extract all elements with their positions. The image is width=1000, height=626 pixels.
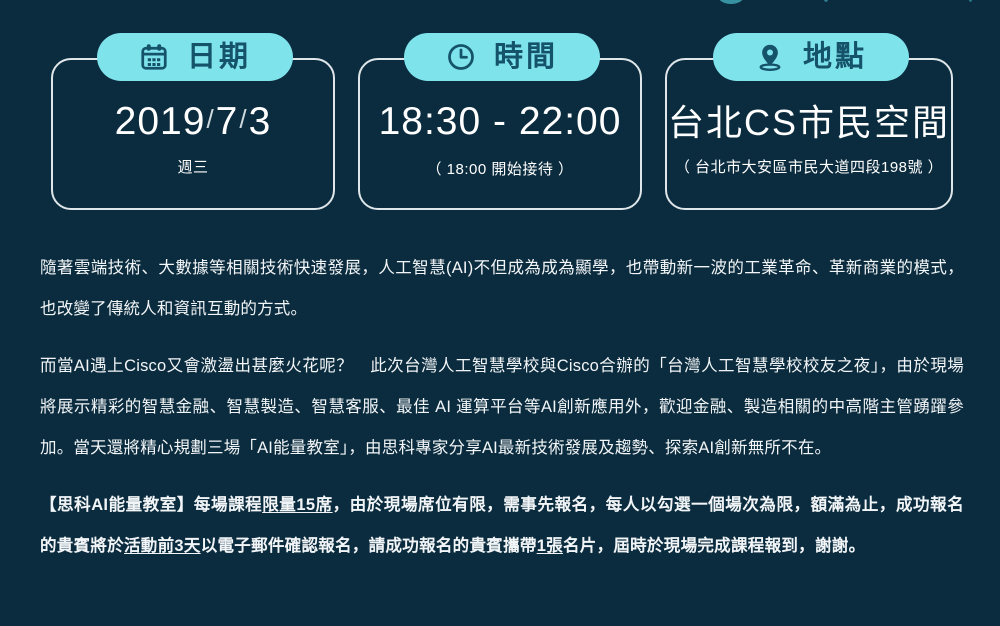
time-badge: 時間 [404, 33, 600, 81]
date-badge-label: 日期 [187, 43, 251, 72]
description-paragraph-2: 而當AI遇上Cisco又會激盪出甚麼火花呢？ 此次台灣人工智慧學校與Cisco合… [40, 346, 964, 469]
event-info-cards: 日期 2019/7/3 週三 時間 18:30 - 22:00 （ 18:00 … [0, 58, 1000, 213]
place-badge-label: 地點 [803, 43, 867, 72]
date-year: 2019 [115, 100, 206, 143]
event-card-time: 時間 18:30 - 22:00 （ 18:00 開始接待 ） [358, 58, 642, 210]
text-run: 【思科AI能量教室】每場課程 [40, 496, 262, 514]
place-value: 台北CS市民空間 [667, 104, 951, 142]
emphasis-underline: 限量15席 [262, 496, 332, 514]
date-month: 7 [216, 100, 239, 143]
cutoff-blob [823, 0, 829, 2]
place-badge: 地點 [713, 33, 909, 81]
text-run: 以電子郵件確認報名，請成功報名的貴賓攜帶 [201, 537, 537, 555]
description-paragraph-3: 【思科AI能量教室】每場課程限量15席，由於現場席位有限，需事先報名，每人以勾選… [40, 485, 964, 567]
emphasis-underline: 活動前3天 [124, 537, 201, 555]
date-separator: / [238, 104, 248, 134]
date-badge: 日期 [97, 33, 293, 81]
event-description: 隨著雲端技術、大數據等相關技術快速發展，人工智慧(AI)不但成為成為顯學，也帶動… [40, 248, 964, 583]
date-day: 3 [249, 100, 272, 143]
clock-icon [446, 42, 476, 72]
cutoff-blob [718, 0, 744, 4]
date-value: 2019/7/3 [53, 102, 333, 143]
time-badge-label: 時間 [494, 43, 558, 72]
place-address: （ 台北市大安區市民大道四段198號 ） [667, 156, 951, 177]
time-note: （ 18:00 開始接待 ） [360, 158, 640, 179]
description-paragraph-1: 隨著雲端技術、大數據等相關技術快速發展，人工智慧(AI)不但成為成為顯學，也帶動… [40, 248, 964, 330]
time-value: 18:30 - 22:00 [360, 102, 640, 143]
map-pin-icon [755, 42, 785, 72]
cutoff-blob [968, 0, 973, 2]
date-separator: / [205, 104, 215, 134]
date-weekday: 週三 [53, 156, 333, 177]
top-cutoff-sliver [0, 0, 1000, 5]
text-run: 名片，屆時於現場完成課程報到，謝謝。 [563, 537, 865, 555]
calendar-icon [139, 42, 169, 72]
event-card-place: 地點 台北CS市民空間 （ 台北市大安區市民大道四段198號 ） [665, 58, 953, 210]
event-card-date: 日期 2019/7/3 週三 [51, 58, 335, 210]
emphasis-underline: 1張 [537, 537, 563, 555]
